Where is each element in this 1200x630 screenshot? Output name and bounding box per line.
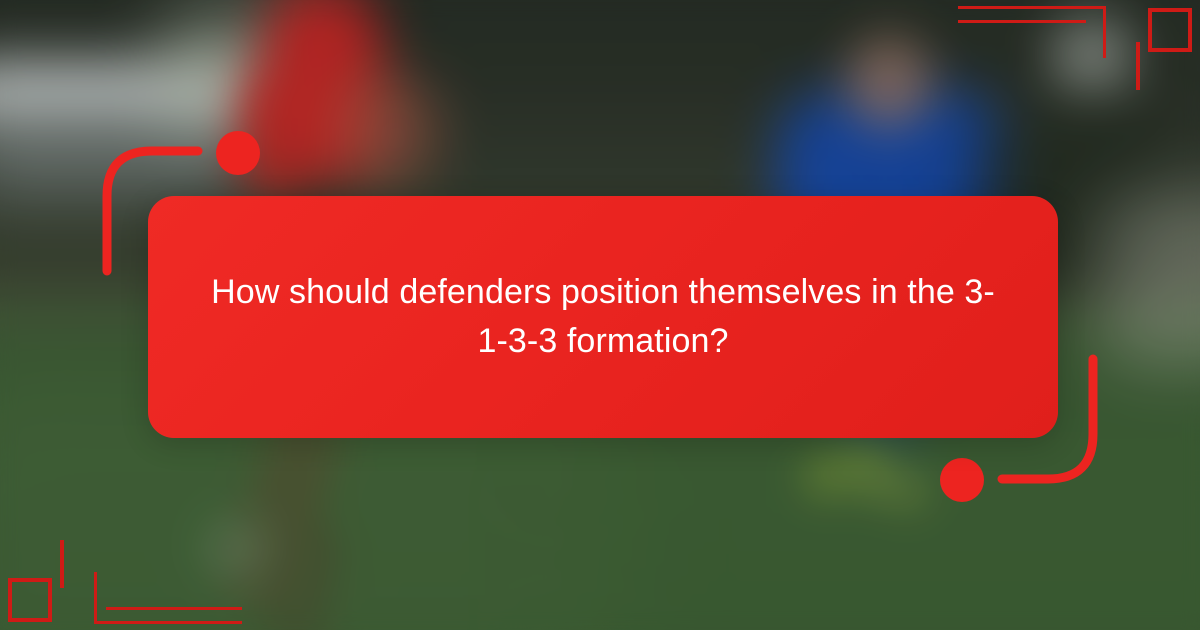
frame-line-bottom-left-lower [94, 621, 242, 624]
frame-square-top-right [1148, 8, 1192, 52]
frame-line-bottom-left-stub [60, 540, 64, 588]
share-card-canvas: How should defenders position themselves… [0, 0, 1200, 630]
frame-square-bottom-left [8, 578, 52, 622]
frame-line-top-right-vertical [1103, 6, 1106, 58]
frame-line-top-right-upper [958, 6, 1106, 9]
frame-line-bottom-left-upper [106, 607, 242, 610]
title-card: How should defenders position themselves… [148, 196, 1058, 438]
frame-line-bottom-left-vertical [94, 572, 97, 624]
accent-dot-top-left-icon [216, 131, 260, 175]
accent-dot-bottom-right-icon [940, 458, 984, 502]
frame-line-top-right-lower [958, 20, 1086, 23]
frame-line-top-right-stub [1136, 42, 1140, 90]
card-title: How should defenders position themselves… [208, 268, 998, 367]
